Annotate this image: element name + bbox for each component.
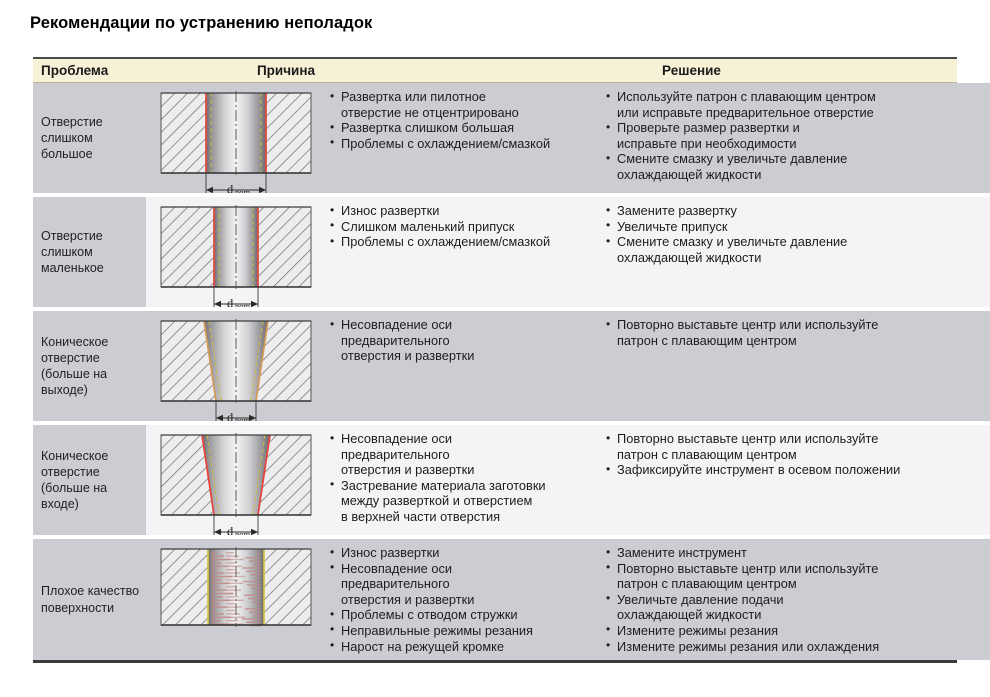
cell-figure <box>146 539 326 660</box>
cause-item: Износ развертки <box>328 545 592 561</box>
solution-item: Проверьте размер развертки и исправьте п… <box>604 120 990 151</box>
cause-list: Несовпадение оси предварительного отверс… <box>328 431 592 525</box>
solution-item: Увеличьте давление подачи охлаждающей жи… <box>604 592 990 623</box>
figure-bore-undersize: d nom <box>153 203 319 307</box>
solution-item: Измените режимы резания или охлаждения <box>604 639 990 655</box>
solution-item: Зафиксируйте инструмент в осевом положен… <box>604 462 990 478</box>
cause-item: Проблемы с охлаждением/смазкой <box>328 234 592 250</box>
figure-bore-oversize: d nom <box>153 89 319 193</box>
table-row: Коническое отверстие (больше на входе) <box>33 425 957 535</box>
cause-list: Несовпадение оси предварительного отверс… <box>328 317 592 364</box>
cell-cause: Износ разверткиНесовпадение оси предвари… <box>326 539 598 660</box>
solution-list: Повторно выставьте центр или используйте… <box>604 317 990 348</box>
cell-problem: Отверстие слишком маленькое <box>33 197 146 307</box>
solution-item: Смените смазку и увеличьте давление охла… <box>604 234 990 265</box>
svg-text:nom: nom <box>235 415 251 421</box>
table-row: Отверстие слишком маленькое <box>33 197 957 307</box>
cause-item: Развертка или пилотное отверстие не отце… <box>328 89 592 120</box>
solution-item: Измените режимы резания <box>604 623 990 639</box>
table-bottom-rule <box>33 660 957 663</box>
cause-item: Слишком маленький припуск <box>328 219 592 235</box>
cause-item: Застревание материала заготовки между ра… <box>328 478 592 525</box>
cell-cause: Несовпадение оси предварительного отверс… <box>326 311 598 421</box>
svg-text:d: d <box>227 297 234 308</box>
cell-problem: Коническое отверстие (больше на входе) <box>33 425 146 535</box>
cell-problem: Отверстие слишком большое <box>33 83 146 193</box>
problem-label: Отверстие слишком маленькое <box>41 228 142 277</box>
problem-label: Отверстие слишком большое <box>41 114 142 163</box>
cell-problem: Плохое качество поверхности <box>33 539 146 660</box>
column-header-problem: Проблема <box>33 63 146 78</box>
table-row: Плохое качество поверхности <box>33 539 957 660</box>
cause-item: Развертка слишком большая <box>328 120 592 136</box>
cell-cause: Несовпадение оси предварительного отверс… <box>326 425 598 535</box>
figure-bore-taper-exit: d nom <box>153 317 319 421</box>
solution-item: Повторно выставьте центр или используйте… <box>604 317 990 348</box>
cause-item: Износ развертки <box>328 203 592 219</box>
cause-item: Несовпадение оси предварительного отверс… <box>328 561 592 608</box>
solution-item: Повторно выставьте центр или используйте… <box>604 431 990 462</box>
cell-figure: d nom <box>146 425 326 535</box>
cell-cause: Износ разверткиСлишком маленький припуск… <box>326 197 598 307</box>
cell-figure: d nom <box>146 197 326 307</box>
troubleshooting-table: Проблема Причина Решение Отверстие слишк… <box>33 57 957 663</box>
table-row: Отверстие слишком большое <box>33 83 957 193</box>
cause-list: Развертка или пилотное отверстие не отце… <box>328 89 592 151</box>
svg-text:d: d <box>227 411 234 422</box>
cell-solution: Замените разверткуУвеличьте припускСмени… <box>598 197 990 307</box>
cell-solution: Повторно выставьте центр или используйте… <box>598 425 990 535</box>
solution-item: Замените инструмент <box>604 545 990 561</box>
svg-text:nom: nom <box>235 187 251 193</box>
solution-item: Используйте патрон с плавающим центром и… <box>604 89 990 120</box>
cause-item: Проблемы с охлаждением/смазкой <box>328 136 592 152</box>
figure-bore-rough-surface <box>153 545 319 633</box>
solution-list: Повторно выставьте центр или используйте… <box>604 431 990 478</box>
solution-item: Смените смазку и увеличьте давление охла… <box>604 151 990 182</box>
column-header-cause: Причина <box>146 63 426 78</box>
solution-item: Повторно выставьте центр или используйте… <box>604 561 990 592</box>
cell-cause: Развертка или пилотное отверстие не отце… <box>326 83 598 193</box>
solution-list: Используйте патрон с плавающим центром и… <box>604 89 990 183</box>
svg-text:d: d <box>227 183 234 194</box>
table-body: Отверстие слишком большое <box>33 83 957 660</box>
problem-label: Плохое качество поверхности <box>41 583 142 616</box>
column-header-solution: Решение <box>426 63 957 78</box>
cause-item: Нарост на режущей кромке <box>328 639 592 655</box>
svg-text:nom: nom <box>235 301 251 307</box>
cell-solution: Повторно выставьте центр или используйте… <box>598 311 990 421</box>
solution-list: Замените инструментПовторно выставьте це… <box>604 545 990 654</box>
cell-problem: Коническое отверстие (больше на выходе) <box>33 311 146 421</box>
solution-list: Замените разверткуУвеличьте припускСмени… <box>604 203 990 265</box>
troubleshooting-page: Рекомендации по устранению неполадок Про… <box>0 0 990 697</box>
figure-bore-taper-entry: d nom <box>153 431 319 535</box>
table-header-row: Проблема Причина Решение <box>33 59 957 83</box>
cause-item: Проблемы с отводом стружки <box>328 607 592 623</box>
cause-list: Износ разверткиНесовпадение оси предвари… <box>328 545 592 654</box>
cell-solution: Используйте патрон с плавающим центром и… <box>598 83 990 193</box>
solution-item: Увеличьте припуск <box>604 219 990 235</box>
solution-item: Замените развертку <box>604 203 990 219</box>
cell-solution: Замените инструментПовторно выставьте це… <box>598 539 990 660</box>
svg-text:nom: nom <box>235 529 251 535</box>
problem-label: Коническое отверстие (больше на выходе) <box>41 334 142 399</box>
problem-label: Коническое отверстие (больше на входе) <box>41 448 142 513</box>
cause-list: Износ разверткиСлишком маленький припуск… <box>328 203 592 250</box>
cause-item: Несовпадение оси предварительного отверс… <box>328 431 592 478</box>
cause-item: Неправильные режимы резания <box>328 623 592 639</box>
cell-figure: d nom <box>146 311 326 421</box>
svg-text:d: d <box>227 525 234 536</box>
table-row: Коническое отверстие (больше на выходе) <box>33 311 957 421</box>
page-title: Рекомендации по устранению неполадок <box>30 14 372 33</box>
cause-item: Несовпадение оси предварительного отверс… <box>328 317 592 364</box>
cell-figure: d nom <box>146 83 326 193</box>
